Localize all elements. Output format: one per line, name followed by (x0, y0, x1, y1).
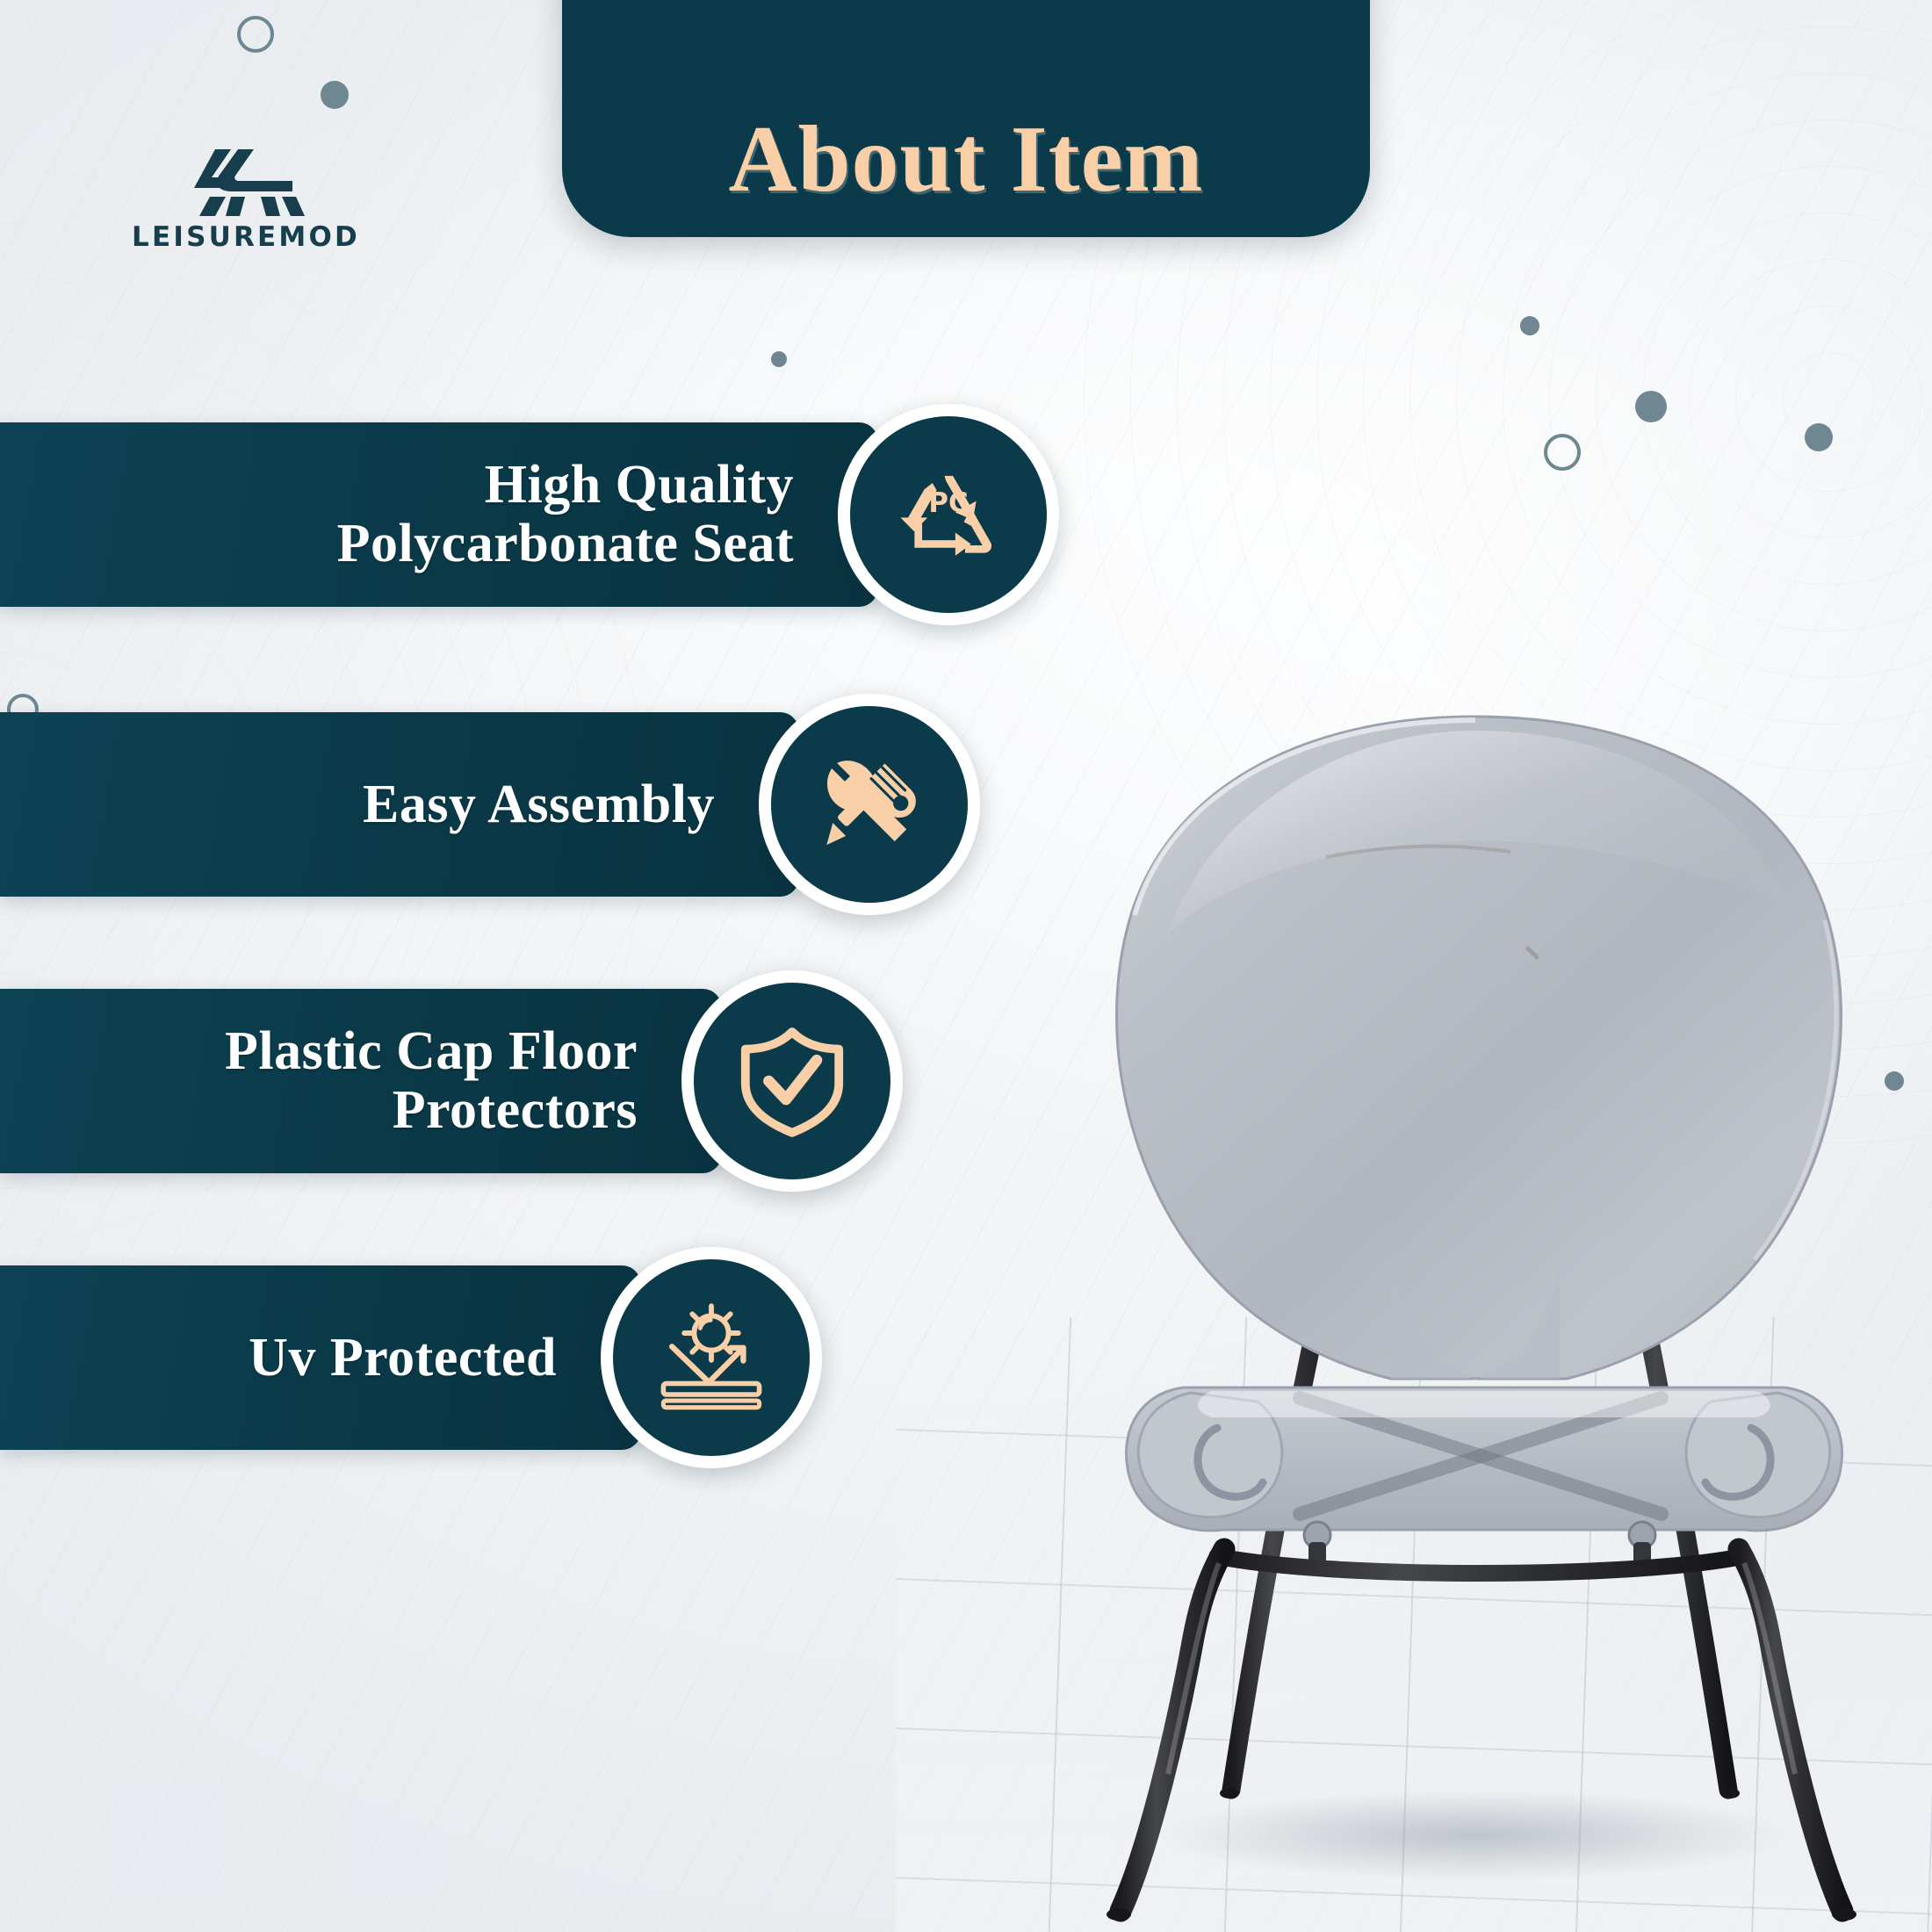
shield-check-icon (681, 970, 903, 1192)
dot-filled-mid-left (771, 351, 787, 367)
dot-filled-right-a (1635, 391, 1667, 422)
feature-bar: Easy Assembly (0, 712, 799, 897)
feature-label: Uv Protected (249, 1329, 557, 1388)
dot-filled-right-b (1805, 423, 1833, 451)
feature-bar: Plastic Cap Floor Protectors (0, 989, 722, 1173)
feature-label: Plastic Cap Floor Protectors (225, 1022, 638, 1140)
dot-ring-right (1544, 434, 1581, 471)
wrench-screwdriver-icon (759, 694, 980, 915)
feature-bar: Uv Protected (0, 1265, 641, 1450)
tiled-floor (896, 1317, 1932, 1932)
brand-logo: LEISUREMOD (132, 141, 360, 253)
feature-row: Easy Assembly (0, 694, 980, 915)
page-title: About Item (729, 112, 1204, 207)
dot-filled-far-right (1885, 1071, 1904, 1091)
svg-text:PC: PC (928, 487, 968, 519)
brand-wordmark: LEISUREMOD (132, 221, 360, 253)
poster-canvas: LEISUREMOD About Item High Quality Polyc… (0, 0, 1932, 1932)
dot-ring-top-left (237, 16, 274, 53)
pc-recycle-icon: PC (838, 404, 1059, 625)
feature-label: High Quality Polycarbonate Seat (337, 456, 794, 573)
uv-sun-reflect-icon (601, 1247, 822, 1468)
lounge-chair-mark-icon (180, 141, 312, 216)
dot-filled-top-right (1520, 316, 1539, 335)
feature-bar: High Quality Polycarbonate Seat (0, 422, 878, 607)
feature-row: Uv Protected (0, 1247, 822, 1468)
feature-row: Plastic Cap Floor Protectors (0, 970, 903, 1192)
floor-tile-grid (896, 1317, 1932, 1932)
header-banner: About Item (562, 0, 1370, 237)
feature-row: High Quality Polycarbonate Seat PC (0, 404, 1059, 625)
feature-label: Easy Assembly (363, 775, 715, 834)
dot-filled-top-left (321, 81, 349, 109)
